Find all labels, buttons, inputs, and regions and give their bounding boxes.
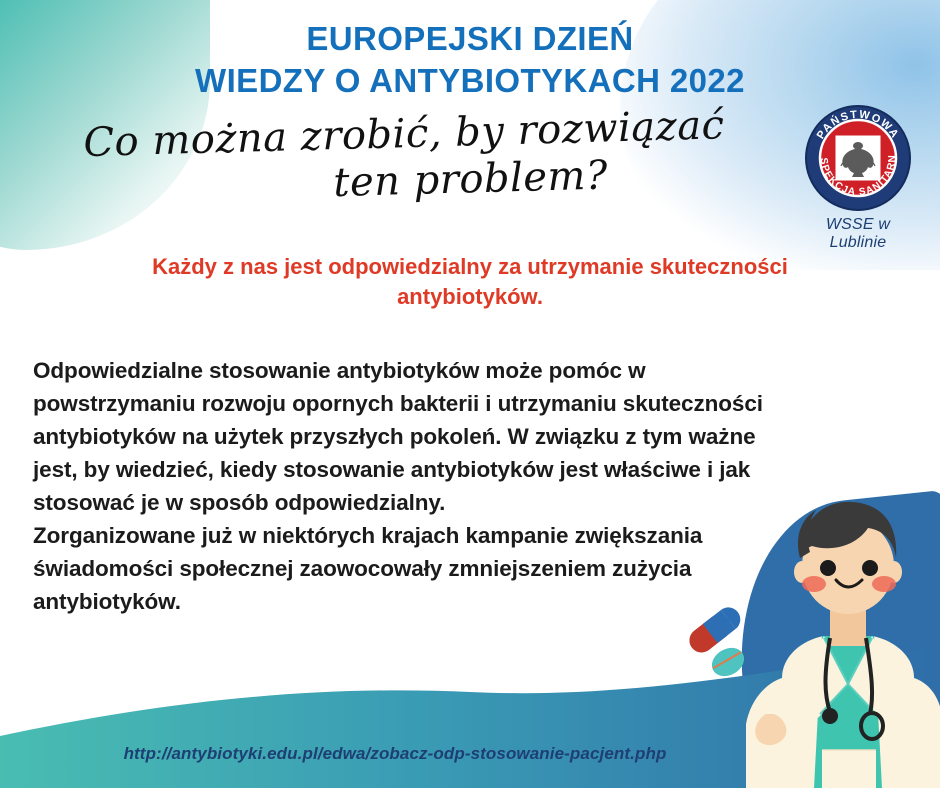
sanitary-inspection-logo: PAŃSTWOWA INSPEKCJA SANITARNA WSSE w Lub… — [798, 104, 918, 252]
body-paragraph-1: Odpowiedzialne stosowanie antybiotyków m… — [33, 354, 793, 519]
round-pill-icon — [707, 642, 749, 682]
stethoscope-chestpiece — [822, 708, 838, 724]
title-line-2: WIEDZY O ANTYBIOTYKACH 2022 — [0, 60, 940, 102]
script-question: Co można zrobić, by rozwiązać ten proble… — [59, 102, 761, 213]
logo-seal-icon: PAŃSTWOWA INSPEKCJA SANITARNA — [804, 104, 912, 212]
poster-title: EUROPEJSKI DZIEŃ WIEDZY O ANTYBIOTYKACH … — [0, 18, 940, 102]
doctor-eye-left — [820, 560, 836, 576]
source-url: http://antybiotyki.edu.pl/edwa/zobacz-od… — [0, 744, 790, 764]
doctor-eye-right — [862, 560, 878, 576]
logo-seal: PAŃSTWOWA INSPEKCJA SANITARNA — [804, 104, 912, 212]
title-line-1: EUROPEJSKI DZIEŃ — [306, 20, 633, 57]
doctor-illustration — [744, 488, 940, 788]
body-text: Odpowiedzialne stosowanie antybiotyków m… — [33, 354, 793, 619]
poster-canvas: EUROPEJSKI DZIEŃ WIEDZY O ANTYBIOTYKACH … — [0, 0, 940, 788]
lead-statement: Każdy z nas jest odpowiedzialny za utrzy… — [140, 252, 800, 313]
logo-caption: WSSE w Lublinie — [798, 216, 918, 252]
